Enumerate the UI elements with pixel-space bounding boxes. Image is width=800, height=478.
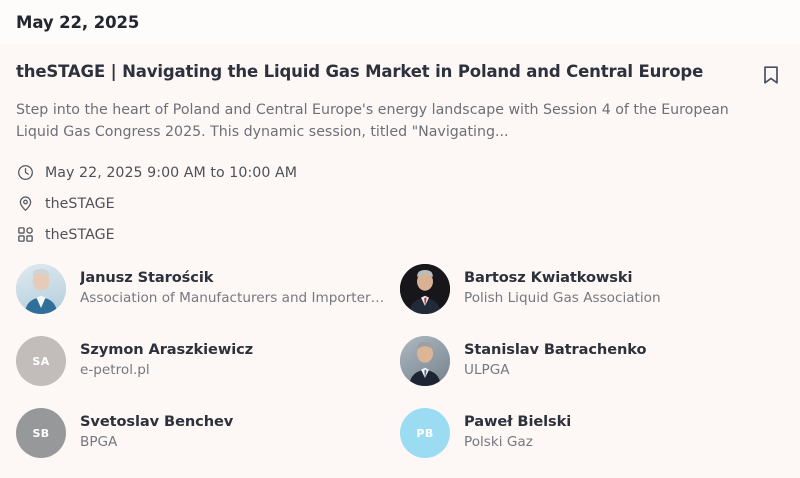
avatar xyxy=(16,264,66,314)
speaker-info: Svetoslav Benchev BPGA xyxy=(80,413,233,453)
location-pin-icon xyxy=(16,195,34,213)
meta-row-location: theSTAGE xyxy=(16,188,784,219)
speaker-item[interactable]: Janusz Starościk Association of Manufact… xyxy=(16,264,400,314)
speaker-org: Polski Gaz xyxy=(464,433,571,453)
avatar xyxy=(400,264,450,314)
speaker-org: e-petrol.pl xyxy=(80,361,253,381)
bookmark-icon xyxy=(762,65,780,88)
speaker-org: BPGA xyxy=(80,433,233,453)
avatar-initials: SB xyxy=(16,408,66,458)
avatar-photo-portrait xyxy=(400,336,450,386)
speaker-name: Szymon Araszkiewicz xyxy=(80,341,253,360)
speaker-item[interactable]: Stanislav Batrachenko ULPGA xyxy=(400,336,784,386)
date-header: May 22, 2025 xyxy=(0,0,800,44)
avatar-initials-label: SB xyxy=(32,427,49,440)
avatar-initials-label: SA xyxy=(32,355,49,368)
avatar-photo-portrait xyxy=(16,264,66,314)
speaker-info: Paweł Bielski Polski Gaz xyxy=(464,413,571,453)
speaker-org: ULPGA xyxy=(464,361,646,381)
meta-row-category: theSTAGE xyxy=(16,219,784,250)
avatar-initials-label: PB xyxy=(416,427,433,440)
event-description: Step into the heart of Poland and Centra… xyxy=(16,100,738,143)
speaker-name: Bartosz Kwiatkowski xyxy=(464,269,661,288)
speaker-org: Association of Manufacturers and Importe… xyxy=(80,289,386,309)
event-meta-list: May 22, 2025 9:00 AM to 10:00 AM theSTAG… xyxy=(16,157,784,250)
speaker-info: Janusz Starościk Association of Manufact… xyxy=(80,269,386,309)
event-title: theSTAGE | Navigating the Liquid Gas Mar… xyxy=(16,62,746,83)
speaker-item[interactable]: PB Paweł Bielski Polski Gaz xyxy=(400,408,784,458)
speaker-info: Stanislav Batrachenko ULPGA xyxy=(464,341,646,381)
speaker-name: Janusz Starościk xyxy=(80,269,386,288)
event-card-header: theSTAGE | Navigating the Liquid Gas Mar… xyxy=(16,62,784,89)
meta-row-datetime: May 22, 2025 9:00 AM to 10:00 AM xyxy=(16,157,784,188)
clock-icon xyxy=(16,164,34,182)
speaker-name: Svetoslav Benchev xyxy=(80,413,233,432)
meta-datetime-label: May 22, 2025 9:00 AM to 10:00 AM xyxy=(45,165,297,181)
speaker-item[interactable]: SB Svetoslav Benchev BPGA xyxy=(16,408,400,458)
meta-category-label: theSTAGE xyxy=(45,227,115,243)
speaker-name: Paweł Bielski xyxy=(464,413,571,432)
speaker-org: Polish Liquid Gas Association xyxy=(464,289,661,309)
speaker-info: Szymon Araszkiewicz e-petrol.pl xyxy=(80,341,253,381)
date-header-label: May 22, 2025 xyxy=(16,13,139,32)
speaker-item[interactable]: Bartosz Kwiatkowski Polish Liquid Gas As… xyxy=(400,264,784,314)
avatar xyxy=(400,336,450,386)
bookmark-button[interactable] xyxy=(758,63,784,89)
event-card[interactable]: theSTAGE | Navigating the Liquid Gas Mar… xyxy=(0,44,800,478)
avatar-photo-portrait xyxy=(400,264,450,314)
speaker-item[interactable]: SA Szymon Araszkiewicz e-petrol.pl xyxy=(16,336,400,386)
avatar-initials: PB xyxy=(400,408,450,458)
meta-location-label: theSTAGE xyxy=(45,196,115,212)
speaker-info: Bartosz Kwiatkowski Polish Liquid Gas As… xyxy=(464,269,661,309)
speaker-name: Stanislav Batrachenko xyxy=(464,341,646,360)
speaker-list: Janusz Starościk Association of Manufact… xyxy=(16,264,784,458)
grid-category-icon xyxy=(16,226,34,244)
avatar-initials: SA xyxy=(16,336,66,386)
